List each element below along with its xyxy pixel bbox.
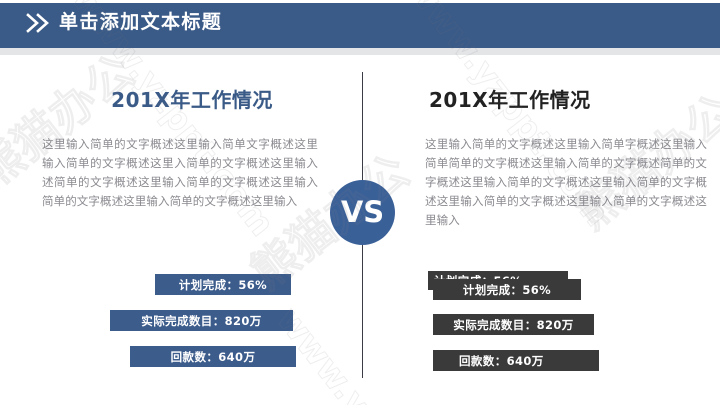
header-underline (0, 48, 720, 55)
vs-badge: VS (330, 180, 395, 245)
left-stat-bar-payment: 回款数：640万 (130, 346, 296, 367)
left-column-title: 201X年工作情况 (42, 90, 332, 116)
right-column-body: 这里输入简单的文字概述这里输入简单字概述这里输入简单简单的文字概述这里输入简单的… (425, 135, 707, 230)
left-column-body: 这里输入简单的文字概述这里输入简单文字概述这里输入简单的文字概述这里入简单的文字… (42, 135, 318, 211)
right-column-title: 201X年工作情况 (425, 90, 715, 116)
right-stat-bar-planned: 计划完成：56% (433, 279, 581, 300)
left-stat-bar-actual: 实际完成数目：820万 (110, 310, 293, 331)
right-stat-bar-actual: 实际完成数目：820万 (433, 314, 594, 335)
left-column: 201X年工作情况 这里输入简单的文字概述这里输入简单文字概述这里输入简单的文字… (42, 90, 332, 211)
double-chevron-right-icon (26, 12, 52, 34)
page-title: 单击添加文本标题 (59, 13, 222, 32)
vs-badge-label: VS (341, 198, 384, 227)
right-stat-bar-payment: 回款数：640万 (433, 350, 599, 371)
presentation-slide: 单击添加文本标题 VS 201X年工作情况 这里输入简单的文字概述这里输入简单文… (0, 0, 720, 405)
slide-header: 单击添加文本标题 (0, 0, 720, 57)
left-stat-bar-planned: 计划完成：56% (155, 274, 291, 295)
header-content: 单击添加文本标题 (26, 0, 222, 45)
watermark: www.yzppt.com (0, 330, 117, 405)
right-column: 201X年工作情况 这里输入简单的文字概述这里输入简单字概述这里输入简单简单的文… (425, 90, 715, 230)
